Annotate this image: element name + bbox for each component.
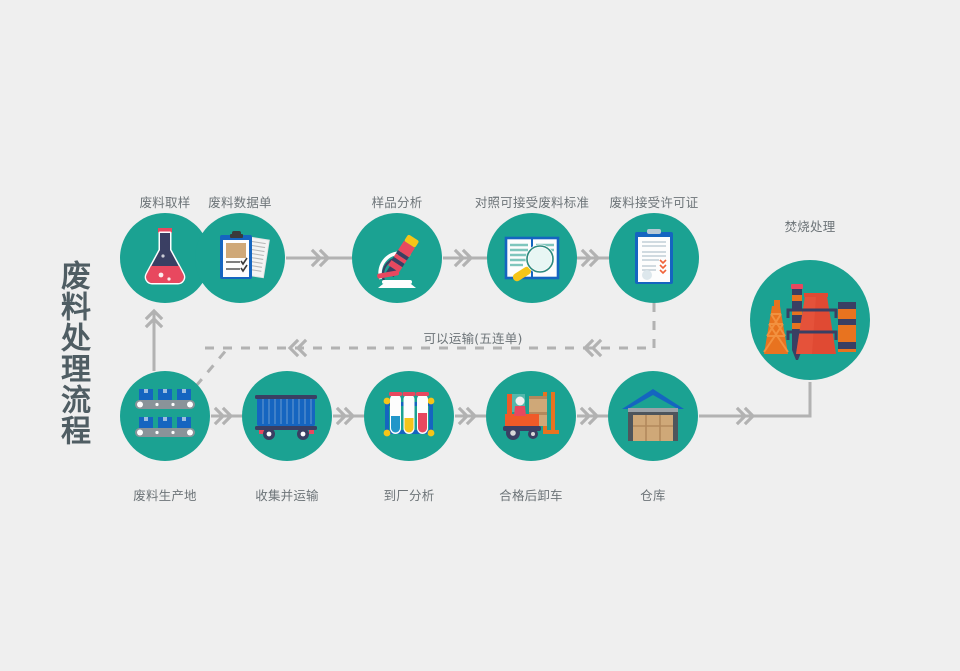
node-acceptance-criteria[interactable] — [487, 213, 577, 303]
label-acceptance-permit: 废料接受许可证 — [610, 192, 699, 211]
node-acceptance-permit[interactable] — [609, 213, 699, 303]
node-warehouse[interactable] — [608, 371, 698, 461]
label-acceptance-criteria: 对照可接受废料标准 — [475, 192, 589, 211]
tank — [838, 302, 856, 352]
node-plant-analysis[interactable] — [364, 371, 454, 461]
tube-pink — [416, 392, 429, 434]
tube-blue — [389, 392, 402, 434]
label-warehouse: 仓库 — [640, 485, 665, 504]
label-sample-analysis: 样品分析 — [372, 192, 423, 211]
label-waste-data-sheet: 废料数据单 — [208, 192, 272, 211]
label-waste-origin: 废料生产地 — [133, 485, 197, 504]
book-magnifier-icon — [506, 238, 558, 283]
node-collect-transport[interactable] — [242, 371, 332, 461]
node-waste-data-sheet[interactable] — [195, 213, 285, 303]
flow-diagram: 废料处理流程 废料取样 废料数据单 样品分析 对照可接受废料标准 废料接受许可证… — [0, 0, 960, 671]
test-tubes-icon — [384, 392, 435, 436]
label-incineration: 焚烧处理 — [785, 216, 836, 235]
certificate-icon — [635, 229, 673, 284]
node-unload-approved[interactable] — [486, 371, 576, 461]
label-waste-sampling: 废料取样 — [140, 192, 191, 211]
label-plant-analysis: 到厂分析 — [384, 485, 435, 504]
label-unload-approved: 合格后卸车 — [499, 485, 563, 504]
node-sample-analysis[interactable] — [352, 213, 442, 303]
node-incineration[interactable] — [750, 260, 870, 380]
flow-note: 可以运输(五连单) — [423, 328, 522, 347]
tube-yellow — [403, 392, 416, 434]
page-title: 废料处理流程 — [42, 260, 88, 446]
node-waste-origin[interactable] — [120, 371, 210, 461]
driver — [514, 397, 526, 417]
label-collect-transport: 收集并运输 — [255, 485, 319, 504]
